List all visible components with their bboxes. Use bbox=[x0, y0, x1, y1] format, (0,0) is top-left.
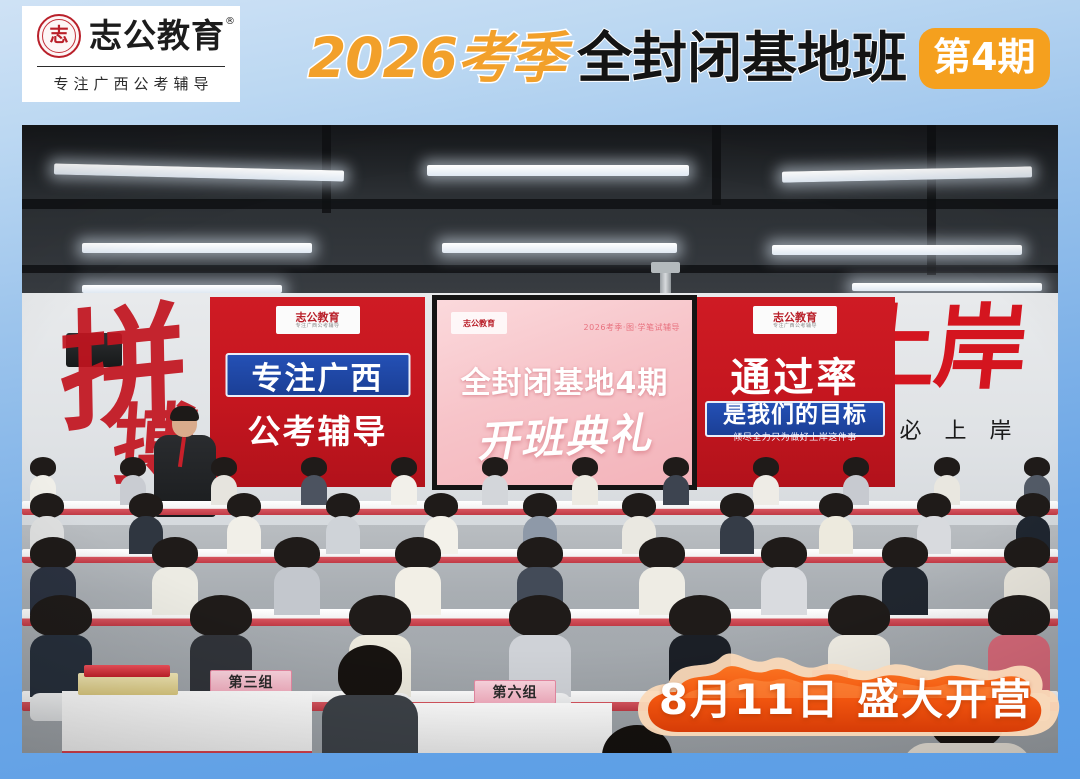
ceiling-beam bbox=[322, 125, 331, 213]
banner-right-line3: 倾尽全力只为做好上岸这件事 bbox=[733, 430, 857, 443]
front-desk-panel bbox=[62, 751, 312, 753]
brand-wordmark: 志公教育 ® bbox=[89, 19, 225, 52]
group-sign-6: 第六组 bbox=[474, 680, 556, 704]
banner-left-line1: 专注广西 bbox=[225, 353, 410, 397]
ceiling-beam bbox=[22, 265, 1058, 273]
launch-date-banner: 8月11日 盛大开营 bbox=[622, 638, 1070, 750]
banner-left-logo-sub: 专注广西公考辅导 bbox=[295, 324, 339, 329]
ceiling-light bbox=[442, 243, 677, 253]
banner-right-logo-chip: 志公教育 专注广西公考辅导 bbox=[753, 306, 837, 334]
student-foreground bbox=[322, 645, 418, 753]
brand-logo-card: 志 志公教育 ® 专注广西公考辅导 bbox=[22, 6, 240, 102]
front-desk bbox=[402, 703, 612, 753]
registered-mark-icon: ® bbox=[225, 17, 236, 27]
ceiling-light bbox=[782, 166, 1032, 182]
banner-left-logo-text: 志公教育 bbox=[296, 312, 340, 323]
ceiling-beam bbox=[712, 125, 721, 205]
ceiling-light bbox=[772, 245, 1022, 255]
banner-left-line2: 公考辅导 bbox=[220, 405, 415, 453]
brand-logo-row: 志 志公教育 ® bbox=[37, 12, 225, 59]
ceiling-light bbox=[427, 165, 689, 176]
headline-season: 2026考季 bbox=[308, 31, 565, 86]
ceiling-light bbox=[82, 243, 312, 253]
instructor-hair bbox=[170, 406, 199, 421]
ceiling-light bbox=[54, 163, 344, 181]
desk-books bbox=[84, 665, 170, 677]
ceiling-beam bbox=[22, 199, 1058, 209]
brand-wordmark-text: 志公教育 bbox=[89, 16, 225, 55]
brand-seal-icon: 志 bbox=[37, 14, 81, 58]
brand-tagline: 专注广西公考辅导 bbox=[48, 73, 213, 94]
headline: 2026考季 全封闭基地班 第4期 bbox=[308, 22, 1050, 94]
headline-main: 全封闭基地班 bbox=[577, 31, 907, 86]
screen-title: 全封闭基地4期 bbox=[437, 358, 692, 402]
banner-right-line2: 是我们的目标 bbox=[723, 395, 867, 429]
headline-edition-badge: 第4期 bbox=[919, 28, 1049, 89]
banner-right-line2-box: 是我们的目标 倾尽全力只为做好上岸这件事 bbox=[705, 401, 885, 437]
ceiling-light bbox=[852, 283, 1042, 291]
banner-right-logo-sub: 专注广西公考辅导 bbox=[773, 324, 817, 329]
screen-tagline: 2026考季·图·学笔试辅导 bbox=[584, 322, 680, 333]
screen-logo-chip: 志公教育 bbox=[451, 312, 507, 334]
poster-header: 志 志公教育 ® 专注广西公考辅导 2026考季 全封闭基地班 第4期 bbox=[0, 0, 1080, 120]
logo-divider bbox=[37, 66, 225, 67]
promo-poster: 志 志公教育 ® 专注广西公考辅导 2026考季 全封闭基地班 第4期 bbox=[0, 0, 1080, 779]
banner-left-logo-chip: 志公教育 专注广西公考辅导 bbox=[276, 306, 360, 334]
front-desk bbox=[62, 691, 312, 751]
banner-right-logo-text: 志公教育 bbox=[773, 312, 817, 323]
brand-seal-char: 志 bbox=[49, 26, 68, 45]
ceiling bbox=[22, 125, 1058, 305]
launch-date-text: 8月11日 盛大开营 bbox=[622, 668, 1070, 724]
